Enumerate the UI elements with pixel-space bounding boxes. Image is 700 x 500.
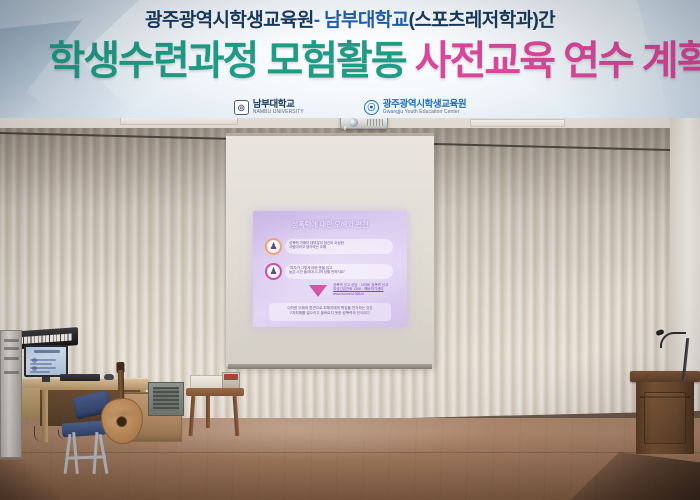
slide-footer-line-2: 2차피해를 일으키고 올바르지 못한 성폭력의 인식이다 (273, 311, 387, 316)
computer-keyboard (60, 374, 100, 381)
monitor-stand (42, 377, 50, 382)
tower-drive-slot (4, 371, 19, 374)
monitor-slide-line (30, 359, 56, 361)
red-box-lid (224, 374, 238, 380)
side-table-leg (233, 396, 240, 436)
chair-leg (64, 434, 72, 474)
podium-front-panel (644, 392, 686, 444)
tower-drive-slot (4, 347, 19, 350)
side-table-leg (206, 396, 210, 428)
gwangju-center-logo: ⦿ 광주광역시학생교육원 Gwangju Youth Education Cen… (364, 100, 466, 115)
chair-crossbar (66, 455, 106, 459)
floor-shadow-left (0, 460, 60, 500)
banner-title: 학생수련과정 모험활동 사전교육 연수 계획 (0, 28, 700, 86)
bullet-1-line-2: 사람이라고 생각하는 오해 (289, 245, 389, 249)
auditorium-scene: 성폭력에 대한 오해와 편견 ♟ 성폭력 가해자 대부분이 정신이 이상한 사람… (0, 0, 700, 500)
nambu-university-logo-text: 남부대학교 NAMBU UNIVERSITY (253, 100, 304, 115)
amplifier (148, 382, 184, 416)
nambu-university-name-en: NAMBU UNIVERSITY (253, 110, 304, 115)
nambu-university-logo: ◎ 남부대학교 NAMBU UNIVERSITY (234, 100, 304, 115)
monitor-slide-line (30, 367, 56, 369)
slide-bullet-text-2: "여자가 그렇게 야한 옷을 입고 늦은 시간 돌아다니니까 당할 만하지요" (285, 264, 393, 279)
slide-link-block: 성폭력 신고 상담 · 사이버 성폭력 신고 여성긴급전화 1366 · 해바라… (333, 283, 403, 296)
tower-drive-slot (4, 339, 19, 342)
screen-bottom-weight-bar (228, 364, 432, 369)
chair-leg (72, 432, 79, 474)
operator-monitor (24, 345, 68, 377)
tower-drive-slot (4, 357, 19, 360)
slide-link-line-3: www.women1366.kr (333, 292, 403, 296)
projected-slide: 성폭력에 대한 오해와 편견 ♟ 성폭력 가해자 대부분이 정신이 이상한 사람… (253, 211, 407, 327)
wooden-podium (634, 371, 696, 457)
person-seated-icon: ♟ (265, 238, 282, 255)
person-standing-icon: ♟ (265, 263, 282, 280)
projector-lens-icon (349, 118, 358, 127)
bullet-2-line-2: 늦은 시간 돌아다니니까 당할 만하지요" (289, 270, 389, 274)
projector-vent-icon (367, 119, 383, 126)
gwangju-youth-education-center-emblem-icon: ⦿ (364, 100, 379, 115)
slide-bullet-text-1: 성폭력 가해자 대부분이 정신이 이상한 사람이라고 생각하는 오해 (285, 239, 393, 254)
storage-box (190, 375, 224, 389)
podium-top-surface (630, 371, 700, 382)
slide-title: 성폭력에 대한 오해와 편견 (253, 219, 407, 230)
slide-bullet-row-1: ♟ 성폭력 가해자 대부분이 정신이 이상한 사람이라고 생각하는 오해 (265, 238, 393, 255)
monitor-screen (26, 347, 66, 375)
gwangju-center-name-en: Gwangju Youth Education Center (383, 110, 466, 115)
ceiling-light-panel-right (470, 119, 565, 127)
side-table-leg (189, 396, 196, 436)
chair-leg (93, 432, 99, 474)
monitor-slide-line (30, 363, 52, 365)
monitor-slide-line (30, 371, 50, 373)
monitor-slide-title-bar (34, 350, 60, 353)
side-table (186, 388, 244, 436)
power-cable (34, 426, 60, 442)
down-arrow-icon (309, 285, 327, 297)
slide-footer-box: 이러한 오해와 편견으로 피해자에게 책임을 전가하는 것은 2차피해를 일으키… (269, 303, 391, 321)
projector-beam (344, 126, 346, 130)
amplifier-grill-icon (153, 387, 179, 411)
banner-title-pink: 사전교육 연수 계획 (415, 39, 700, 83)
gwangju-center-logo-text: 광주광역시학생교육원 Gwangju Youth Education Cente… (383, 100, 466, 115)
slide-bullet-row-2: ♟ "여자가 그렇게 야한 옷을 입고 늦은 시간 돌아다니니까 당할 만하지요… (265, 263, 393, 280)
acoustic-guitar (97, 370, 149, 446)
event-banner: 광주광역시학생교육원- 남부대학교(스포츠레저학과)간 학생수련과정 모험활동 … (0, 0, 700, 118)
banner-title-green: 학생수련과정 모험활동 (49, 39, 406, 83)
gooseneck-microphone-arm (660, 332, 686, 348)
nambu-university-emblem-icon: ◎ (234, 100, 249, 115)
side-table-top (186, 388, 244, 396)
podium-body (636, 382, 694, 454)
desktop-computer-tower (0, 330, 22, 458)
banner-logo-row: ◎ 남부대학교 NAMBU UNIVERSITY ⦿ 광주광역시학생교육원 Gw… (0, 100, 700, 115)
